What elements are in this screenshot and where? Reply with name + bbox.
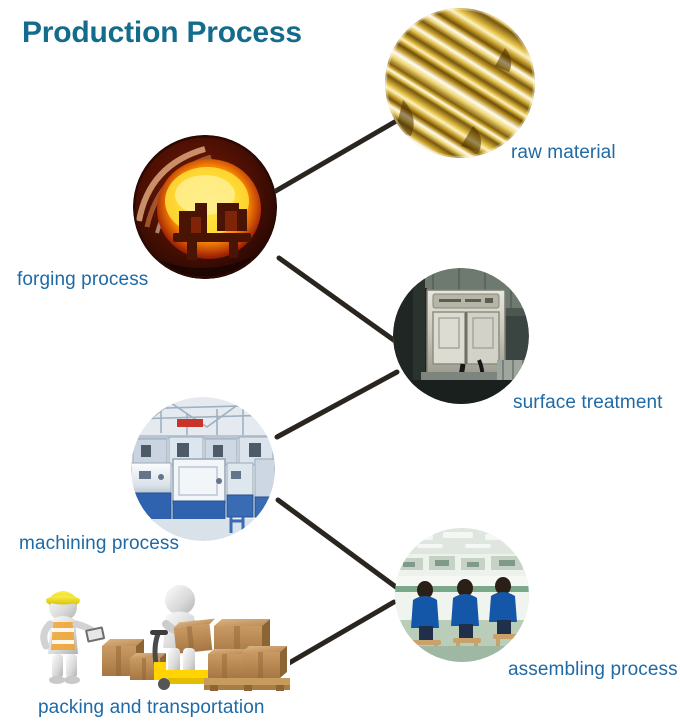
label-machining-process: machining process	[19, 533, 179, 555]
connector-forging-to-raw	[274, 120, 398, 192]
connector-forging-to-surface	[279, 258, 402, 346]
connector-packing-to-assembling	[277, 602, 394, 670]
photo-forging-process	[133, 135, 277, 279]
label-raw-material: raw material	[511, 142, 616, 164]
production-process-infographic: Production Process	[0, 0, 680, 725]
label-surface-treatment: surface treatment	[513, 392, 663, 414]
connector-machining-to-surface	[277, 372, 397, 437]
connector-machining-to-assembling	[278, 500, 400, 590]
photo-surface-treatment	[393, 268, 529, 404]
label-forging-process: forging process	[17, 269, 148, 291]
label-packing-and-transportation: packing and transportation	[38, 697, 265, 719]
photo-machining-process	[131, 397, 275, 541]
page-title: Production Process	[22, 16, 302, 50]
label-assembling-process: assembling process	[508, 659, 678, 681]
photo-raw-material	[385, 8, 535, 158]
photo-assembling-process	[395, 528, 529, 662]
illustration-packing-and-transportation	[18, 558, 290, 694]
